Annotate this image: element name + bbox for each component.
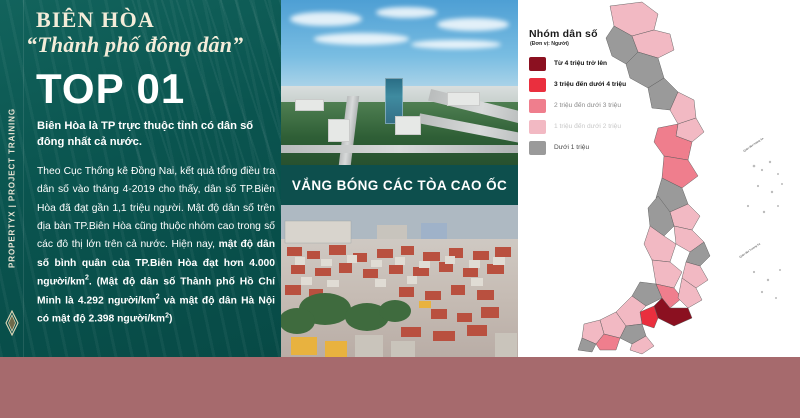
slide-canvas: PROPERTYX | PROJECT TRAINING BIÊN HÒA “T… xyxy=(0,0,800,418)
paragraph-emphasis-4: ) xyxy=(169,314,172,325)
dense-housing-photo xyxy=(281,205,518,357)
photo-column: VẮNG BÓNG CÁC TÒA CAO ỐC xyxy=(281,0,518,357)
legend-swatch-icon xyxy=(529,57,546,71)
archipelago-label: Quần đảo Hoàng Sa xyxy=(742,136,764,153)
bottom-accent-bar xyxy=(0,357,800,418)
legend-swatch-icon xyxy=(529,78,546,92)
aerial-city-photo xyxy=(281,0,518,165)
photo-caption-bar: VẮNG BÓNG CÁC TÒA CAO ỐC xyxy=(281,165,518,205)
archipelago-label: Quần đảo Trường Sa xyxy=(738,241,761,258)
legend-swatch-icon xyxy=(529,120,546,134)
brand-label: PROPERTYX | PROJECT TRAINING xyxy=(7,108,16,268)
legend-swatch-icon xyxy=(529,141,546,155)
building-block xyxy=(395,116,421,136)
page-title-line2: “Thành phố đông dân” xyxy=(26,32,243,58)
vietnam-choropleth-map: Quần đảo Hoàng Sa Quần đảo Trường Sa xyxy=(558,0,800,357)
cross-road xyxy=(281,145,518,153)
photo-caption-text: VẮNG BÓNG CÁC TÒA CAO ỐC xyxy=(292,178,507,193)
left-panel-content: BIÊN HÒA “Thành phố đông dân” TOP 01 Biê… xyxy=(24,0,281,357)
cloud-shape xyxy=(376,7,438,19)
legend-swatch-icon xyxy=(529,99,546,113)
island-dots xyxy=(747,161,783,299)
building-block xyxy=(328,119,349,142)
diamond-logo-icon xyxy=(4,310,19,336)
subtitle-text: Biên Hòa là TP trực thuộc tỉnh có dân số… xyxy=(37,118,277,150)
left-text-panel: PROPERTYX | PROJECT TRAINING BIÊN HÒA “T… xyxy=(0,0,281,357)
page-title-line1: BIÊN HÒA xyxy=(36,7,155,33)
building-block xyxy=(295,99,323,111)
brand-sidebar: PROPERTYX | PROJECT TRAINING xyxy=(0,0,24,357)
cloud-shape xyxy=(290,12,361,27)
rooftop-pattern xyxy=(281,205,518,357)
rank-badge: TOP 01 xyxy=(36,68,185,110)
body-paragraph: Theo Cục Thống kê Đồng Nai, kết quả tổng… xyxy=(37,163,275,329)
paragraph-intro: Theo Cục Thống kê Đồng Nai, kết quả tổng… xyxy=(37,166,275,250)
province-shape xyxy=(652,260,682,288)
cloud-shape xyxy=(314,33,409,45)
map-panel: Nhóm dân số (Đơn vị: Người) Từ 4 triệu t… xyxy=(518,0,800,357)
building-block xyxy=(447,92,480,105)
